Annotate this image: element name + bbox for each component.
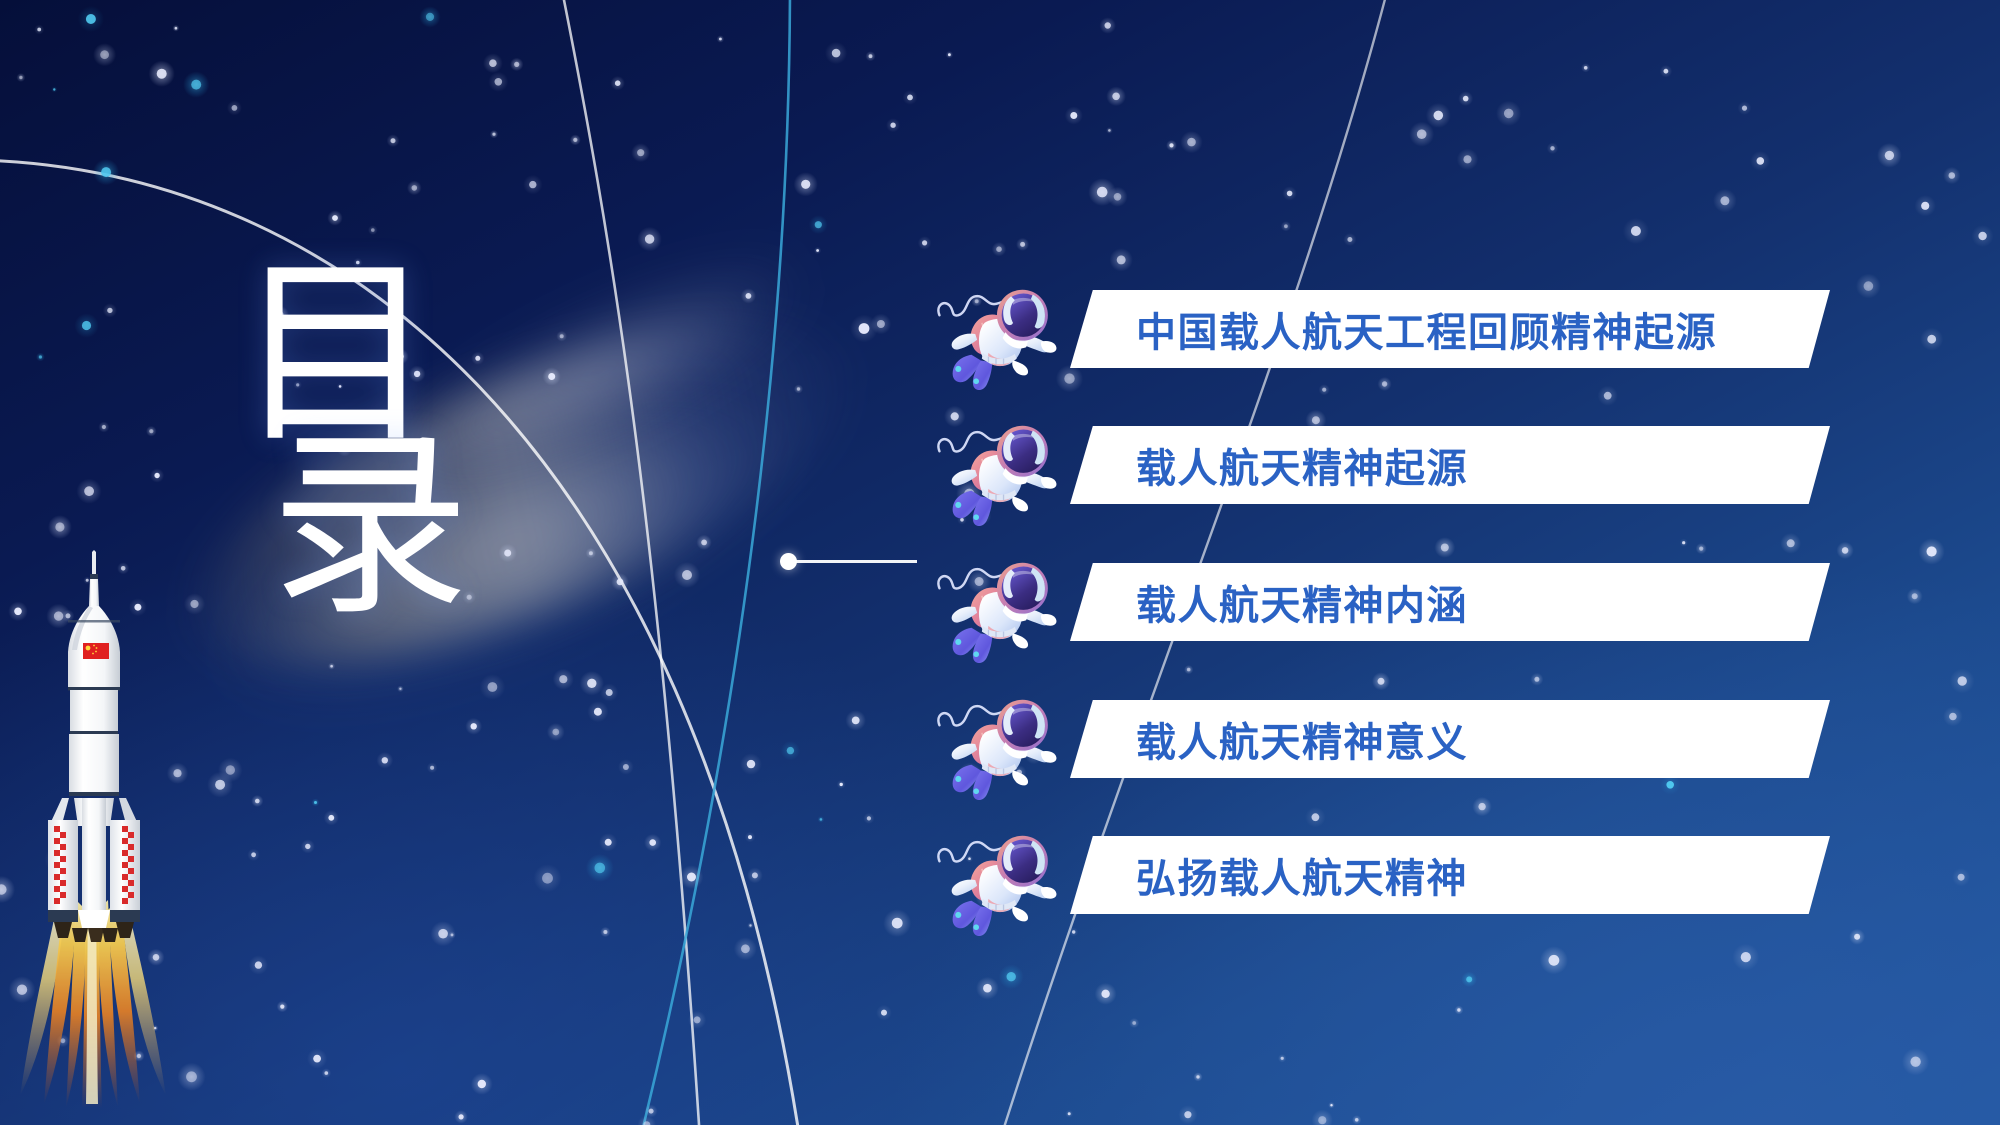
astronaut-icon bbox=[930, 408, 1062, 534]
astronaut-icon bbox=[930, 818, 1062, 944]
toc-banner-4[interactable]: 载人航天精神意义 bbox=[1070, 700, 1830, 778]
toc-banner-2[interactable]: 载人航天精神起源 bbox=[1070, 426, 1830, 504]
toc-item-4[interactable]: 载人航天精神意义 bbox=[930, 682, 1990, 812]
toc-label-4: 载人航天精神意义 bbox=[1136, 710, 1468, 768]
toc-banner-1[interactable]: 中国载人航天工程回顾精神起源 bbox=[1070, 290, 1830, 368]
astronaut-icon bbox=[930, 682, 1062, 808]
astronaut-icon bbox=[930, 272, 1062, 398]
slide-canvas: 目 录 bbox=[0, 0, 2000, 1125]
astronaut-icon bbox=[930, 545, 1062, 671]
toc-label-5: 弘扬载人航天精神 bbox=[1136, 846, 1468, 904]
rocket-icon bbox=[14, 548, 174, 1108]
toc-banner-5[interactable]: 弘扬载人航天精神 bbox=[1070, 836, 1830, 914]
toc-item-2[interactable]: 载人航天精神起源 bbox=[930, 408, 1990, 538]
toc-item-5[interactable]: 弘扬载人航天精神 bbox=[930, 818, 1990, 948]
toc-label-3: 载人航天精神内涵 bbox=[1136, 573, 1468, 631]
toc-item-3[interactable]: 载人航天精神内涵 bbox=[930, 545, 1990, 675]
toc-item-1[interactable]: 中国载人航天工程回顾精神起源 bbox=[930, 272, 1990, 402]
toc-menu: 中国载人航天工程回顾精神起源 bbox=[0, 0, 2000, 1125]
toc-label-1: 中国载人航天工程回顾精神起源 bbox=[1136, 300, 1717, 358]
toc-label-2: 载人航天精神起源 bbox=[1136, 436, 1468, 494]
toc-banner-3[interactable]: 载人航天精神内涵 bbox=[1070, 563, 1830, 641]
